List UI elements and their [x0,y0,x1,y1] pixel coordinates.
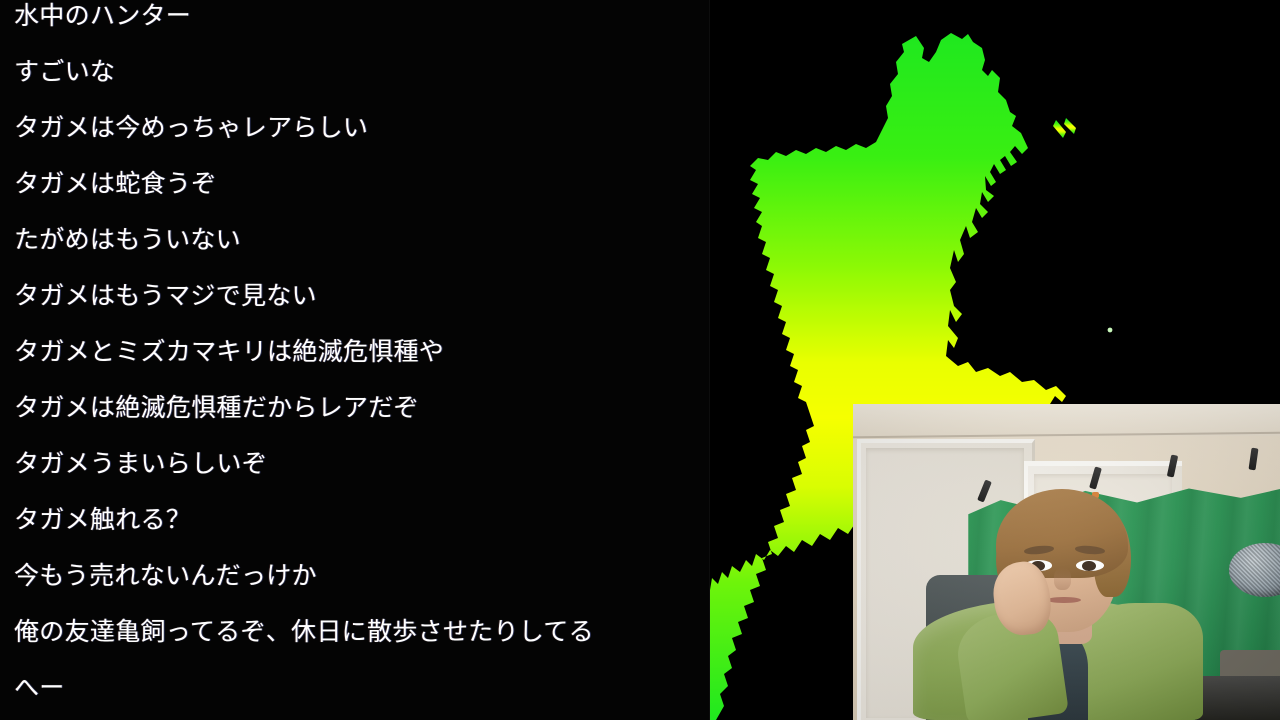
comment-item: タガメ触れる？ [0,492,710,548]
webcam-overlay[interactable] [853,404,1280,720]
comment-list: 水中のハンター すごいな タガメは今めっちゃレアらしい タガメは蛇食うぞ たがめ… [0,0,710,716]
comment-item: タガメうまいらしいぞ [0,436,710,492]
mie-island-sliver-2 [1053,120,1066,138]
comment-item: へー [0,660,710,716]
comment-item: すごいな [0,44,710,100]
comment-item: タガメは今めっちゃレアらしい [0,100,710,156]
person-pupil-right [1082,561,1096,571]
stream-screen: 水中のハンター すごいな タガメは今めっちゃレアらしい タガメは蛇食うぞ たがめ… [0,0,1280,720]
comment-item: たがめはもういない [0,212,710,268]
comment-item: タガメとミズカマキリは絶滅危惧種や [0,324,710,380]
comment-feed-panel[interactable]: 水中のハンター すごいな タガメは今めっちゃレアらしい タガメは蛇食うぞ たがめ… [0,0,710,720]
webcam-video-frame [853,404,1280,720]
comment-item: 俺の友達亀飼ってるぞ、休日に散歩させたりしてる [0,604,710,660]
comment-item: タガメはもうマジで見ない [0,268,710,324]
mie-island-sliver-1 [1064,118,1076,134]
room-ceiling [853,404,1280,436]
desk-clutter-front [1195,676,1280,720]
mie-island-dot [1108,328,1113,333]
comment-item: 今もう売れないんだっけか [0,548,710,604]
comment-item: タガメは絶滅危惧種だからレアだぞ [0,380,710,436]
comment-item: 水中のハンター [0,0,710,44]
comment-item: タガメは蛇食うぞ [0,156,710,212]
person-nose [1054,568,1071,590]
